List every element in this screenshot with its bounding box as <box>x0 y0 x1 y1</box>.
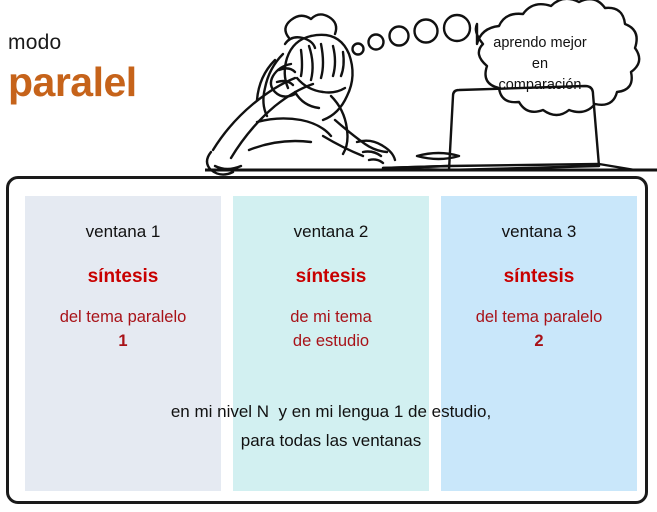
thought-bubble-line-3: comparación <box>460 75 620 96</box>
window-title-3: síntesis <box>441 265 637 289</box>
window-column-2[interactable]: ventana 2 síntesis de mi tema de estudio <box>233 196 429 491</box>
window-columns: ventana 1 síntesis del tema paralelo 1 v… <box>25 196 637 491</box>
window-body-1-line-1: del tema paralelo <box>25 305 221 329</box>
thought-bubble-text: aprendo mejor en comparación <box>460 33 620 96</box>
window-body-3-line-2: 2 <box>441 329 637 353</box>
window-body-1-line-2: 1 <box>25 329 221 353</box>
window-label-3: ventana 3 <box>441 221 637 243</box>
slide-canvas: modo paralel <box>0 0 657 512</box>
window-column-3[interactable]: ventana 3 síntesis del tema paralelo 2 <box>441 196 637 491</box>
heading-mode-name: paralel <box>8 58 238 106</box>
window-body-3: del tema paralelo 2 <box>441 305 637 353</box>
page-title: modo paralel <box>8 30 238 106</box>
heading-mode-label: modo <box>8 30 238 56</box>
window-label-1: ventana 1 <box>25 221 221 243</box>
window-title-2: síntesis <box>233 265 429 289</box>
window-body-1: del tema paralelo 1 <box>25 305 221 353</box>
window-body-3-line-1: del tema paralelo <box>441 305 637 329</box>
thought-bubble-line-1: aprendo mejor <box>460 33 620 54</box>
parallel-mode-panel: ventana 1 síntesis del tema paralelo 1 v… <box>6 176 648 504</box>
window-body-2: de mi tema de estudio <box>233 305 429 353</box>
window-label-2: ventana 2 <box>233 221 429 243</box>
window-column-1[interactable]: ventana 1 síntesis del tema paralelo 1 <box>25 196 221 491</box>
window-title-1: síntesis <box>25 265 221 289</box>
window-body-2-line-2: de estudio <box>233 329 429 353</box>
thought-bubble-line-2: en <box>460 54 620 75</box>
window-body-2-line-1: de mi tema <box>233 305 429 329</box>
